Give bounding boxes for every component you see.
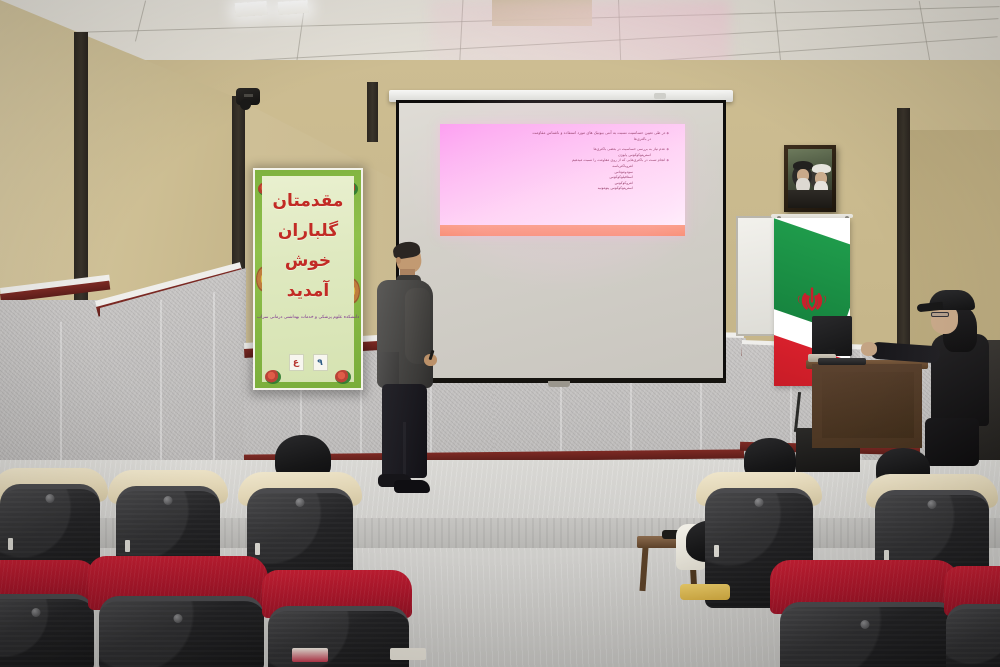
presenter-leg-seam — [403, 422, 406, 478]
banner-line-3: خوش — [285, 246, 331, 276]
presenter-shoe-right — [394, 480, 430, 493]
operator-legs — [925, 418, 979, 466]
lecture-hall-photo: ◆ در طی تعیین حساسیت نسبت به آنتی بیوتیک… — [0, 0, 1000, 667]
seat-back — [268, 606, 409, 667]
seat-rivet — [296, 498, 305, 507]
slide-line-text: استافیلوکوکوس — [609, 175, 633, 179]
seat-back — [99, 596, 265, 667]
slide-line-text: انتروباکتریاسه — [612, 164, 633, 168]
banner-subtitle: دانشکده علوم پزشکی و خدمات بهداشتی درمان… — [257, 315, 359, 320]
banner-field: مقدمتان گلباران خوش آمدید دانشکده علوم پ… — [262, 176, 354, 382]
slide-line-text: استرپتوکوکوس پایوژن — [618, 153, 651, 157]
slide-text-body: ◆ در طی تعیین حساسیت نسبت به آنتی بیوتیک… — [446, 130, 677, 192]
slide-line-text: استرپتوکوکوس پنومونیه — [598, 186, 633, 190]
paper-on-floor-2 — [390, 648, 426, 660]
slide-footer-band — [440, 225, 685, 236]
seat-rivet — [164, 496, 173, 505]
welcome-banner: مقدمتان گلباران خوش آمدید دانشکده علوم پ… — [253, 168, 363, 390]
banner-line-1: مقدمتان — [273, 186, 344, 216]
wall-stripe-3 — [367, 82, 378, 142]
presenter-arm — [405, 288, 430, 364]
desk-front-panel — [822, 372, 914, 438]
slide-line-text: عدم نیاز به بررسی حساسیت در بعضی باکتری‌… — [593, 147, 665, 151]
slide-bullet-icon: ◆ — [665, 131, 669, 135]
slide-line-text: انجام تست در باکتری‌هایی که از روی مقاوم… — [572, 158, 665, 162]
ceiling-light-1 — [235, 1, 268, 17]
security-camera — [236, 88, 260, 105]
presenter-ear — [396, 257, 401, 264]
presenter — [372, 244, 448, 497]
seat-back — [946, 604, 1000, 667]
seat-rivet — [861, 620, 870, 629]
slide-line-text: در باکتری‌ها — [634, 137, 651, 141]
screen-roller-knob[interactable] — [654, 93, 666, 99]
banner-line-4: آمدید — [287, 276, 329, 306]
seat-label — [714, 545, 719, 557]
seat-label — [125, 540, 130, 552]
screen-pull-tab[interactable] — [548, 381, 570, 387]
seat-back — [780, 602, 959, 667]
portrait-robes — [788, 190, 832, 208]
banner-logo-left: ع — [289, 354, 304, 371]
operator-glasses — [931, 312, 949, 317]
av-operator — [905, 290, 1000, 470]
seat-row2-2[interactable] — [88, 556, 268, 667]
seat-label — [255, 543, 260, 555]
computer-keyboard — [818, 358, 866, 365]
seat-label — [8, 538, 13, 550]
camera-lens — [240, 99, 251, 110]
slide-bullet-icon: ◆ — [665, 158, 669, 162]
banner-line-2: گلباران — [278, 216, 338, 246]
iran-emblem-icon — [794, 284, 830, 314]
seat-row2-1[interactable] — [0, 560, 96, 667]
seat-rivet — [928, 500, 937, 509]
portrait-image — [788, 149, 832, 208]
slide-bullet-icon: ◆ — [665, 147, 669, 151]
seat-rivet — [32, 608, 41, 617]
seat-rivet — [46, 494, 55, 503]
slide-line-1: ◆ در طی تعیین حساسیت نسبت به آنتی بیوتیک… — [446, 130, 677, 137]
seat-row2-4[interactable] — [770, 560, 960, 667]
slide-line-2: در باکتری‌ها — [446, 137, 677, 143]
seat-rivet — [755, 498, 764, 507]
banner-logos: ع ۹ — [262, 354, 354, 371]
armrest-4 — [680, 584, 730, 600]
operator-hand — [861, 342, 877, 356]
paper-on-floor — [292, 648, 328, 662]
seat-rivet — [174, 614, 183, 623]
seat-back — [0, 594, 94, 667]
presentation-slide: ◆ در طی تعیین حساسیت نسبت به آنتی بیوتیک… — [440, 124, 685, 236]
slide-line-10: استرپتوکوکوس پنومونیه — [446, 186, 677, 192]
slide-line-text: انتروکوکوس — [615, 181, 633, 185]
banner-logo-right: ۹ — [313, 354, 328, 371]
slide-line-text: در طی تعیین حساسیت نسبت به آنتی بیوتیک ه… — [532, 130, 665, 135]
camera-label — [244, 94, 253, 97]
seat-row2-5[interactable] — [944, 566, 1000, 667]
leaders-portrait — [784, 145, 836, 212]
ceiling-light-2 — [278, 0, 309, 15]
slide-line-text: سودوموناس — [615, 170, 633, 174]
